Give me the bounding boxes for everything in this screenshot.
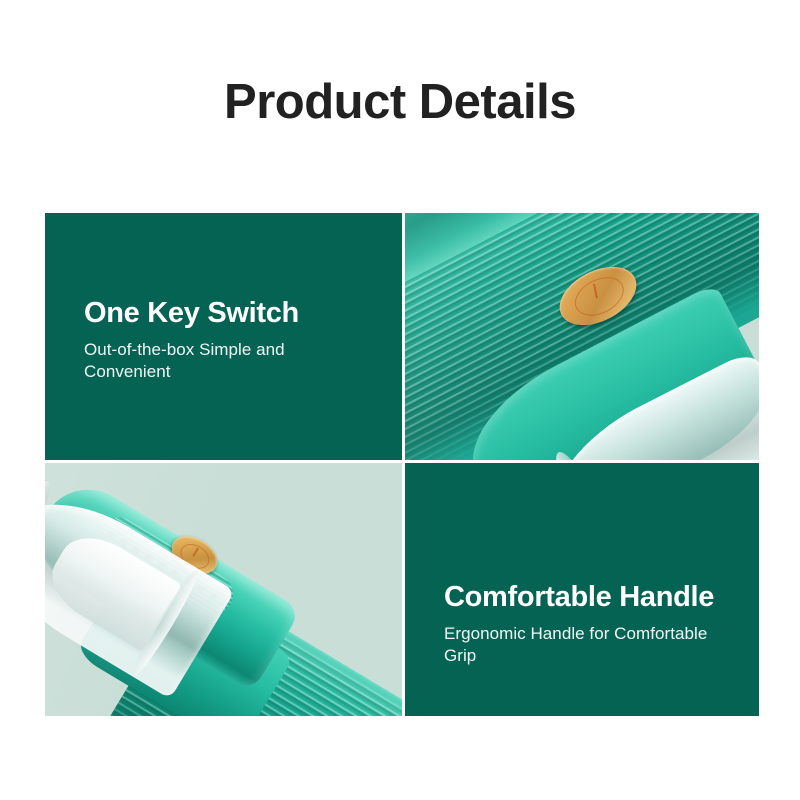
feature-description-one-key-switch: Out-of-the-box Simple and Convenient (84, 339, 359, 383)
product-details-page: Product Details One Key Switch Out-of-th… (0, 0, 800, 800)
feature-panel-comfortable-handle: Comfortable Handle Ergonomic Handle for … (405, 463, 759, 716)
feature-text-block: Comfortable Handle Ergonomic Handle for … (444, 580, 741, 667)
feature-description-comfortable-handle: Ergonomic Handle for Comfortable Grip (444, 623, 719, 667)
feature-text-block: One Key Switch Out-of-the-box Simple and… (84, 296, 384, 383)
page-title: Product Details (0, 72, 800, 132)
feature-title-one-key-switch: One Key Switch (84, 296, 384, 330)
feature-grid: One Key Switch Out-of-the-box Simple and… (45, 213, 756, 713)
product-photo-full-vacuum (45, 463, 402, 716)
vacuum-button-closeup-illustration (405, 213, 759, 460)
feature-panel-one-key-switch: One Key Switch Out-of-the-box Simple and… (45, 213, 402, 460)
product-photo-button-closeup (405, 213, 759, 460)
vacuum-full-illustration (45, 463, 402, 716)
feature-title-comfortable-handle: Comfortable Handle (444, 580, 741, 614)
